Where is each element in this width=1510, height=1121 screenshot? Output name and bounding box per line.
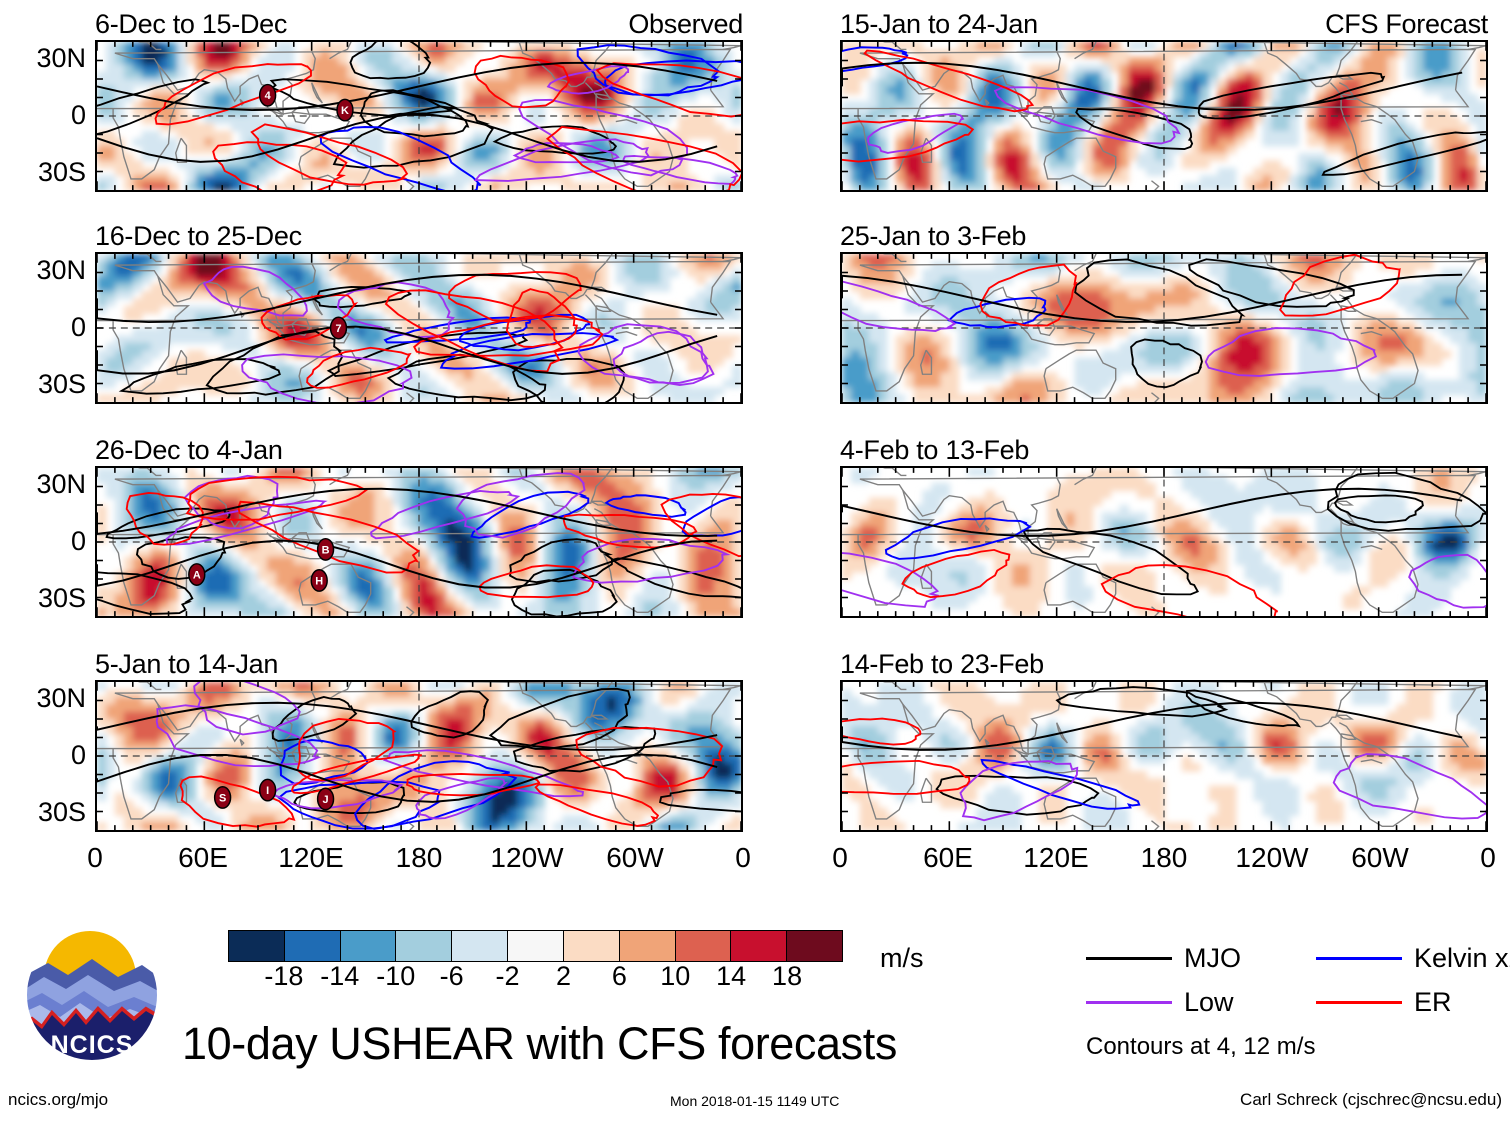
colorbar-tick-label: -2 — [496, 962, 520, 990]
colorbar-swatch — [285, 931, 341, 961]
wave-legend: MJOKelvin x2LowER — [1086, 944, 1506, 1024]
map-frame[interactable] — [840, 40, 1488, 192]
colorbar-units-label: m/s — [880, 944, 924, 972]
x-axis-tick-label: 0 — [1480, 843, 1496, 873]
footer-right[interactable]: Carl Schreck (cjschrec@ncsu.edu) — [1240, 1090, 1502, 1109]
x-axis-tick-label: 0 — [735, 843, 751, 873]
colorbar-tick-label: -10 — [376, 962, 415, 990]
shear-anomaly-field — [842, 42, 1486, 190]
x-axis-tick-label: 60E — [178, 843, 228, 873]
storm-marker-label: A — [193, 570, 201, 582]
colorbar-tick-label: 18 — [772, 962, 802, 990]
legend-item-low: Low — [1086, 988, 1234, 1016]
panel-title: 4-Feb to 13-Feb — [840, 436, 1029, 464]
y-axis-tick-label: 0 — [71, 314, 86, 341]
shear-anomaly-field — [842, 468, 1486, 616]
legend-label: Kelvin x2 — [1414, 944, 1510, 972]
legend-item-mjo: MJO — [1086, 944, 1241, 972]
storm-marker: K — [337, 99, 353, 120]
panel-title: 14-Feb to 23-Feb — [840, 650, 1044, 678]
x-axis-tick-label: 120W — [1235, 843, 1308, 873]
panel-title: 15-Jan to 24-Jan — [840, 10, 1038, 38]
ncics-logo[interactable]: NCICS — [22, 925, 162, 1065]
x-axis-tick-label: 0 — [832, 843, 848, 873]
contour-note: Contours at 4, 12 m/s — [1086, 1034, 1315, 1060]
colorbar-swatch — [452, 931, 508, 961]
legend-line-swatch — [1316, 957, 1402, 960]
shear-anomaly-field: 7 — [97, 254, 741, 402]
map-frame[interactable] — [840, 680, 1488, 832]
storm-marker: S — [215, 787, 231, 808]
map-frame[interactable] — [840, 252, 1488, 404]
storm-marker-label: K — [341, 105, 349, 117]
colorbar-tick-label: -14 — [320, 962, 359, 990]
colorbar-tick-label: 6 — [612, 962, 627, 990]
map-frame[interactable]: SIJ — [95, 680, 743, 832]
footer-center: Mon 2018-01-15 1149 UTC — [670, 1092, 839, 1111]
map-panel-p4[interactable]: 5-Jan to 14-Jan30N030S060E120E180120W60W… — [95, 680, 743, 832]
legend-line-swatch — [1316, 1001, 1402, 1004]
y-axis-tick-label: 30N — [36, 685, 86, 712]
legend-item-kelvin-x2: Kelvin x2 — [1316, 944, 1510, 972]
x-axis-tick-label: 120W — [490, 843, 563, 873]
y-axis-tick-label: 30S — [38, 585, 86, 612]
shear-anomaly-field: ABH — [97, 468, 741, 616]
legend-label: ER — [1414, 988, 1452, 1016]
storm-marker-label: J — [323, 794, 329, 806]
x-axis: 060E120E180120W60W0 — [95, 843, 743, 877]
storm-marker: A — [189, 564, 205, 585]
figure-root: 6-Dec to 15-DecObserved30N030S4K16-Dec t… — [0, 0, 1510, 1121]
map-panel-p3[interactable]: 26-Dec to 4-Jan30N030SABH — [95, 466, 743, 618]
colorbar: -18-14-10-6-226101418 — [228, 930, 843, 962]
x-axis-tick-label: 180 — [1141, 843, 1188, 873]
footer-left[interactable]: ncics.org/mjo — [8, 1090, 108, 1109]
colorbar-tick-label: 2 — [556, 962, 571, 990]
y-axis-tick-label: 0 — [71, 102, 86, 129]
colorbar-swatch — [396, 931, 452, 961]
ncics-logo-icon: NCICS — [22, 925, 162, 1065]
storm-marker: I — [260, 779, 276, 800]
storm-marker-label: S — [219, 792, 226, 804]
colorbar-swatch — [731, 931, 787, 961]
legend-label: Low — [1184, 988, 1234, 1016]
storm-marker: J — [318, 788, 334, 809]
panel-title: 6-Dec to 15-Dec — [95, 10, 287, 38]
panel-corner-label: Observed — [628, 10, 743, 38]
colorbar-swatch — [229, 931, 285, 961]
x-axis-tick-label: 180 — [396, 843, 443, 873]
x-axis-tick-label: 60W — [606, 843, 664, 873]
map-frame[interactable]: ABH — [95, 466, 743, 618]
x-axis-tick-label: 60W — [1351, 843, 1409, 873]
map-panel-p8[interactable]: 14-Feb to 23-Feb060E120E180120W60W0 — [840, 680, 1488, 832]
y-axis-tick-label: 30N — [36, 257, 86, 284]
x-axis-tick-label: 0 — [87, 843, 103, 873]
shear-anomaly-field: SIJ — [97, 682, 741, 830]
colorbar-tick-label: -6 — [440, 962, 464, 990]
y-axis-tick-label: 30S — [38, 799, 86, 826]
panel-title: 25-Jan to 3-Feb — [840, 222, 1026, 250]
colorbar-swatch — [787, 931, 842, 961]
x-axis: 060E120E180120W60W0 — [840, 843, 1488, 877]
storm-marker-label: H — [315, 575, 323, 587]
panel-title: 26-Dec to 4-Jan — [95, 436, 283, 464]
colorbar-tick-label: -18 — [264, 962, 303, 990]
y-axis-tick-label: 30S — [38, 371, 86, 398]
colorbar-tick-label: 10 — [660, 962, 690, 990]
y-axis-tick-label: 30N — [36, 45, 86, 72]
panel-title: 16-Dec to 25-Dec — [95, 222, 302, 250]
map-frame[interactable] — [840, 466, 1488, 618]
storm-marker: B — [318, 539, 334, 560]
x-axis-tick-label: 120E — [278, 843, 343, 873]
colorbar-swatch — [620, 931, 676, 961]
y-axis-tick-label: 0 — [71, 742, 86, 769]
storm-marker-label: 7 — [335, 323, 341, 335]
map-panel-p6[interactable]: 25-Jan to 3-Feb — [840, 252, 1488, 404]
legend-line-swatch — [1086, 957, 1172, 960]
colorbar-ticks: -18-14-10-6-226101418 — [228, 962, 843, 992]
map-panel-p2[interactable]: 16-Dec to 25-Dec30N030S7 — [95, 252, 743, 404]
y-axis-tick-label: 0 — [71, 528, 86, 555]
shear-anomaly-field — [842, 254, 1486, 402]
panel-corner-label: CFS Forecast — [1325, 10, 1488, 38]
storm-marker-label: I — [266, 785, 269, 797]
storm-marker: H — [311, 570, 327, 591]
storm-marker-label: 4 — [265, 90, 271, 102]
shear-anomaly-field — [842, 682, 1486, 830]
map-panel-p1[interactable]: 6-Dec to 15-DecObserved30N030S4K — [95, 40, 743, 192]
map-frame[interactable]: 7 — [95, 252, 743, 404]
x-axis-tick-label: 120E — [1023, 843, 1088, 873]
y-axis-tick-label: 30S — [38, 159, 86, 186]
storm-marker: 7 — [331, 317, 347, 338]
colorbar-tick-label: 14 — [716, 962, 746, 990]
map-panel-p7[interactable]: 4-Feb to 13-Feb — [840, 466, 1488, 618]
colorbar-swatch — [508, 931, 564, 961]
colorbar-swatch — [564, 931, 620, 961]
y-axis-tick-label: 30N — [36, 471, 86, 498]
legend-line-swatch — [1086, 1001, 1172, 1004]
storm-marker: 4 — [260, 85, 276, 106]
colorbar-strip — [228, 930, 843, 962]
legend-label: MJO — [1184, 944, 1241, 972]
colorbar-swatch — [341, 931, 397, 961]
map-frame[interactable]: 4K — [95, 40, 743, 192]
page-title: 10-day USHEAR with CFS forecasts — [182, 1020, 897, 1068]
x-axis-tick-label: 60E — [923, 843, 973, 873]
panel-title: 5-Jan to 14-Jan — [95, 650, 278, 678]
storm-marker-label: B — [322, 544, 330, 556]
shear-anomaly-field: 4K — [97, 42, 741, 190]
legend-item-er: ER — [1316, 988, 1452, 1016]
map-panel-p5[interactable]: 15-Jan to 24-JanCFS Forecast — [840, 40, 1488, 192]
colorbar-swatch — [676, 931, 732, 961]
